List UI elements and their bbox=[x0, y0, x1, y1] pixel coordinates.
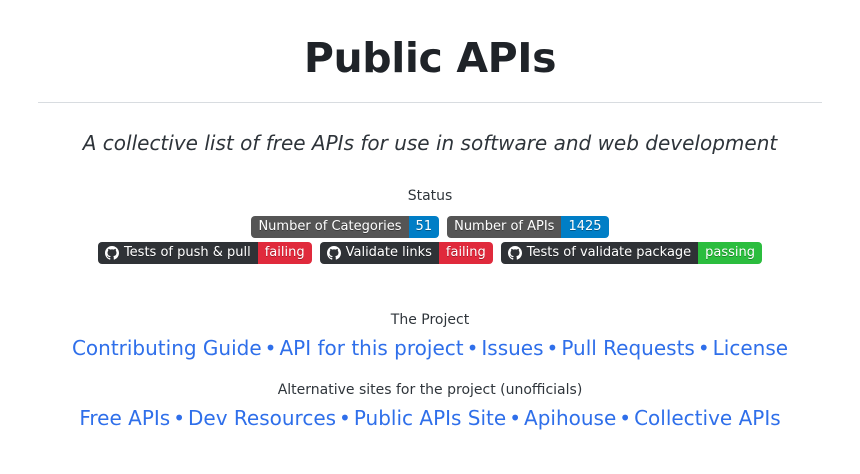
github-icon bbox=[508, 246, 522, 260]
link-collective-apis[interactable]: Collective APIs bbox=[634, 406, 781, 430]
github-icon bbox=[105, 246, 119, 260]
badge-value-number-of-apis: 1425 bbox=[561, 216, 608, 238]
badge-label-tests-of-push-and-pull: Tests of push & pull bbox=[98, 242, 258, 264]
link-separator: • bbox=[170, 406, 188, 430]
badge-label-text: Number of APIs bbox=[454, 216, 554, 238]
alternative-links-caption: Alternative sites for the project (unoff… bbox=[38, 380, 822, 401]
link-separator: • bbox=[616, 406, 634, 430]
badge-label-tests-of-validate-package: Tests of validate package bbox=[501, 242, 698, 264]
project-links-caption: The Project bbox=[38, 310, 822, 331]
badge-value-tests-of-validate-package: passing bbox=[698, 242, 762, 264]
link-api-for-this-project[interactable]: API for this project bbox=[279, 336, 463, 360]
link-contributing-guide[interactable]: Contributing Guide bbox=[72, 336, 262, 360]
page-subtitle: A collective list of free APIs for use i… bbox=[38, 131, 822, 155]
link-free-apis[interactable]: Free APIs bbox=[79, 406, 170, 430]
link-separator: • bbox=[695, 336, 713, 360]
status-section: Status Number of Categories51Number of A… bbox=[38, 187, 822, 264]
badge-tests-of-validate-package[interactable]: Tests of validate packagepassing bbox=[501, 242, 762, 264]
link-separator: • bbox=[506, 406, 524, 430]
link-apihouse[interactable]: Apihouse bbox=[524, 406, 616, 430]
badge-value-validate-links: failing bbox=[439, 242, 493, 264]
link-separator: • bbox=[544, 336, 562, 360]
badge-label-number-of-categories: Number of Categories bbox=[251, 216, 408, 238]
status-caption: Status bbox=[38, 187, 822, 207]
project-links-list: Contributing Guide•API for this project•… bbox=[38, 333, 822, 364]
link-license[interactable]: License bbox=[713, 336, 788, 360]
page-subtitle-text: A collective list of free APIs for use i… bbox=[83, 131, 777, 155]
link-separator: • bbox=[336, 406, 354, 430]
badge-label-validate-links: Validate links bbox=[320, 242, 439, 264]
badge-label-text: Tests of push & pull bbox=[124, 242, 251, 264]
badge-label-text: Number of Categories bbox=[258, 216, 401, 238]
badge-number-of-categories[interactable]: Number of Categories51 bbox=[251, 216, 439, 238]
link-pull-requests[interactable]: Pull Requests bbox=[561, 336, 695, 360]
link-separator: • bbox=[262, 336, 280, 360]
page-title: Public APIs bbox=[38, 34, 822, 82]
link-public-apis-site[interactable]: Public APIs Site bbox=[354, 406, 506, 430]
badge-value-number-of-categories: 51 bbox=[409, 216, 440, 238]
badge-value-tests-of-push-and-pull: failing bbox=[258, 242, 312, 264]
link-dev-resources[interactable]: Dev Resources bbox=[188, 406, 336, 430]
link-separator: • bbox=[464, 336, 482, 360]
title-block: Public APIs bbox=[38, 0, 822, 103]
status-badge-row-ci: Tests of push & pullfailingValidate link… bbox=[38, 242, 822, 264]
badge-label-text: Tests of validate package bbox=[527, 242, 691, 264]
link-issues[interactable]: Issues bbox=[481, 336, 543, 360]
alternative-links-section: Alternative sites for the project (unoff… bbox=[38, 380, 822, 434]
badge-tests-of-push-and-pull[interactable]: Tests of push & pullfailing bbox=[98, 242, 312, 264]
readme-page: Public APIs A collective list of free AP… bbox=[0, 0, 860, 474]
github-icon bbox=[327, 246, 341, 260]
badge-validate-links[interactable]: Validate linksfailing bbox=[320, 242, 493, 264]
status-badge-row-counts: Number of Categories51Number of APIs1425 bbox=[38, 216, 822, 238]
badge-label-number-of-apis: Number of APIs bbox=[447, 216, 561, 238]
alternative-links-list: Free APIs•Dev Resources•Public APIs Site… bbox=[38, 403, 822, 434]
badge-number-of-apis[interactable]: Number of APIs1425 bbox=[447, 216, 608, 238]
title-divider bbox=[38, 102, 822, 103]
project-links-section: The Project Contributing Guide•API for t… bbox=[38, 310, 822, 364]
badge-label-text: Validate links bbox=[346, 242, 432, 264]
